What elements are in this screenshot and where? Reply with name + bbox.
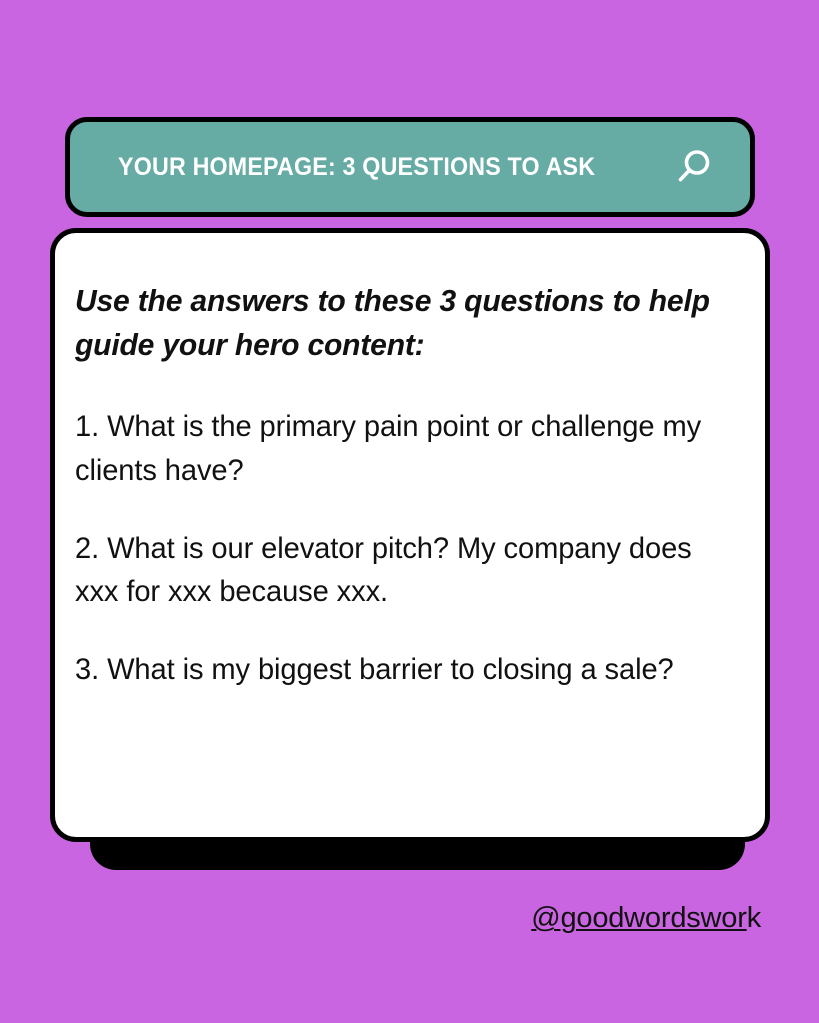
social-handle[interactable]: @goodwordswork — [531, 902, 761, 935]
header-bar: YOUR HOMEPAGE: 3 QUESTIONS TO ASK — [65, 117, 755, 217]
page-title: YOUR HOMEPAGE: 3 QUESTIONS TO ASK — [118, 153, 595, 181]
search-icon[interactable] — [672, 145, 716, 189]
intro-text: Use the answers to these 3 questions to … — [75, 279, 717, 367]
poster-canvas: YOUR HOMEPAGE: 3 QUESTIONS TO ASK Use th… — [0, 0, 819, 1023]
question-item: 2. What is our elevator pitch? My compan… — [75, 527, 717, 615]
question-item: 1. What is the primary pain point or cha… — [75, 405, 717, 493]
social-handle-tail: k — [747, 902, 761, 934]
card-inner: Use the answers to these 3 questions to … — [75, 279, 737, 692]
content-card: Use the answers to these 3 questions to … — [50, 228, 770, 842]
question-item: 3. What is my biggest barrier to closing… — [75, 648, 717, 692]
social-handle-underlined: @goodwordswor — [531, 902, 746, 934]
question-list: 1. What is the primary pain point or cha… — [75, 405, 737, 692]
